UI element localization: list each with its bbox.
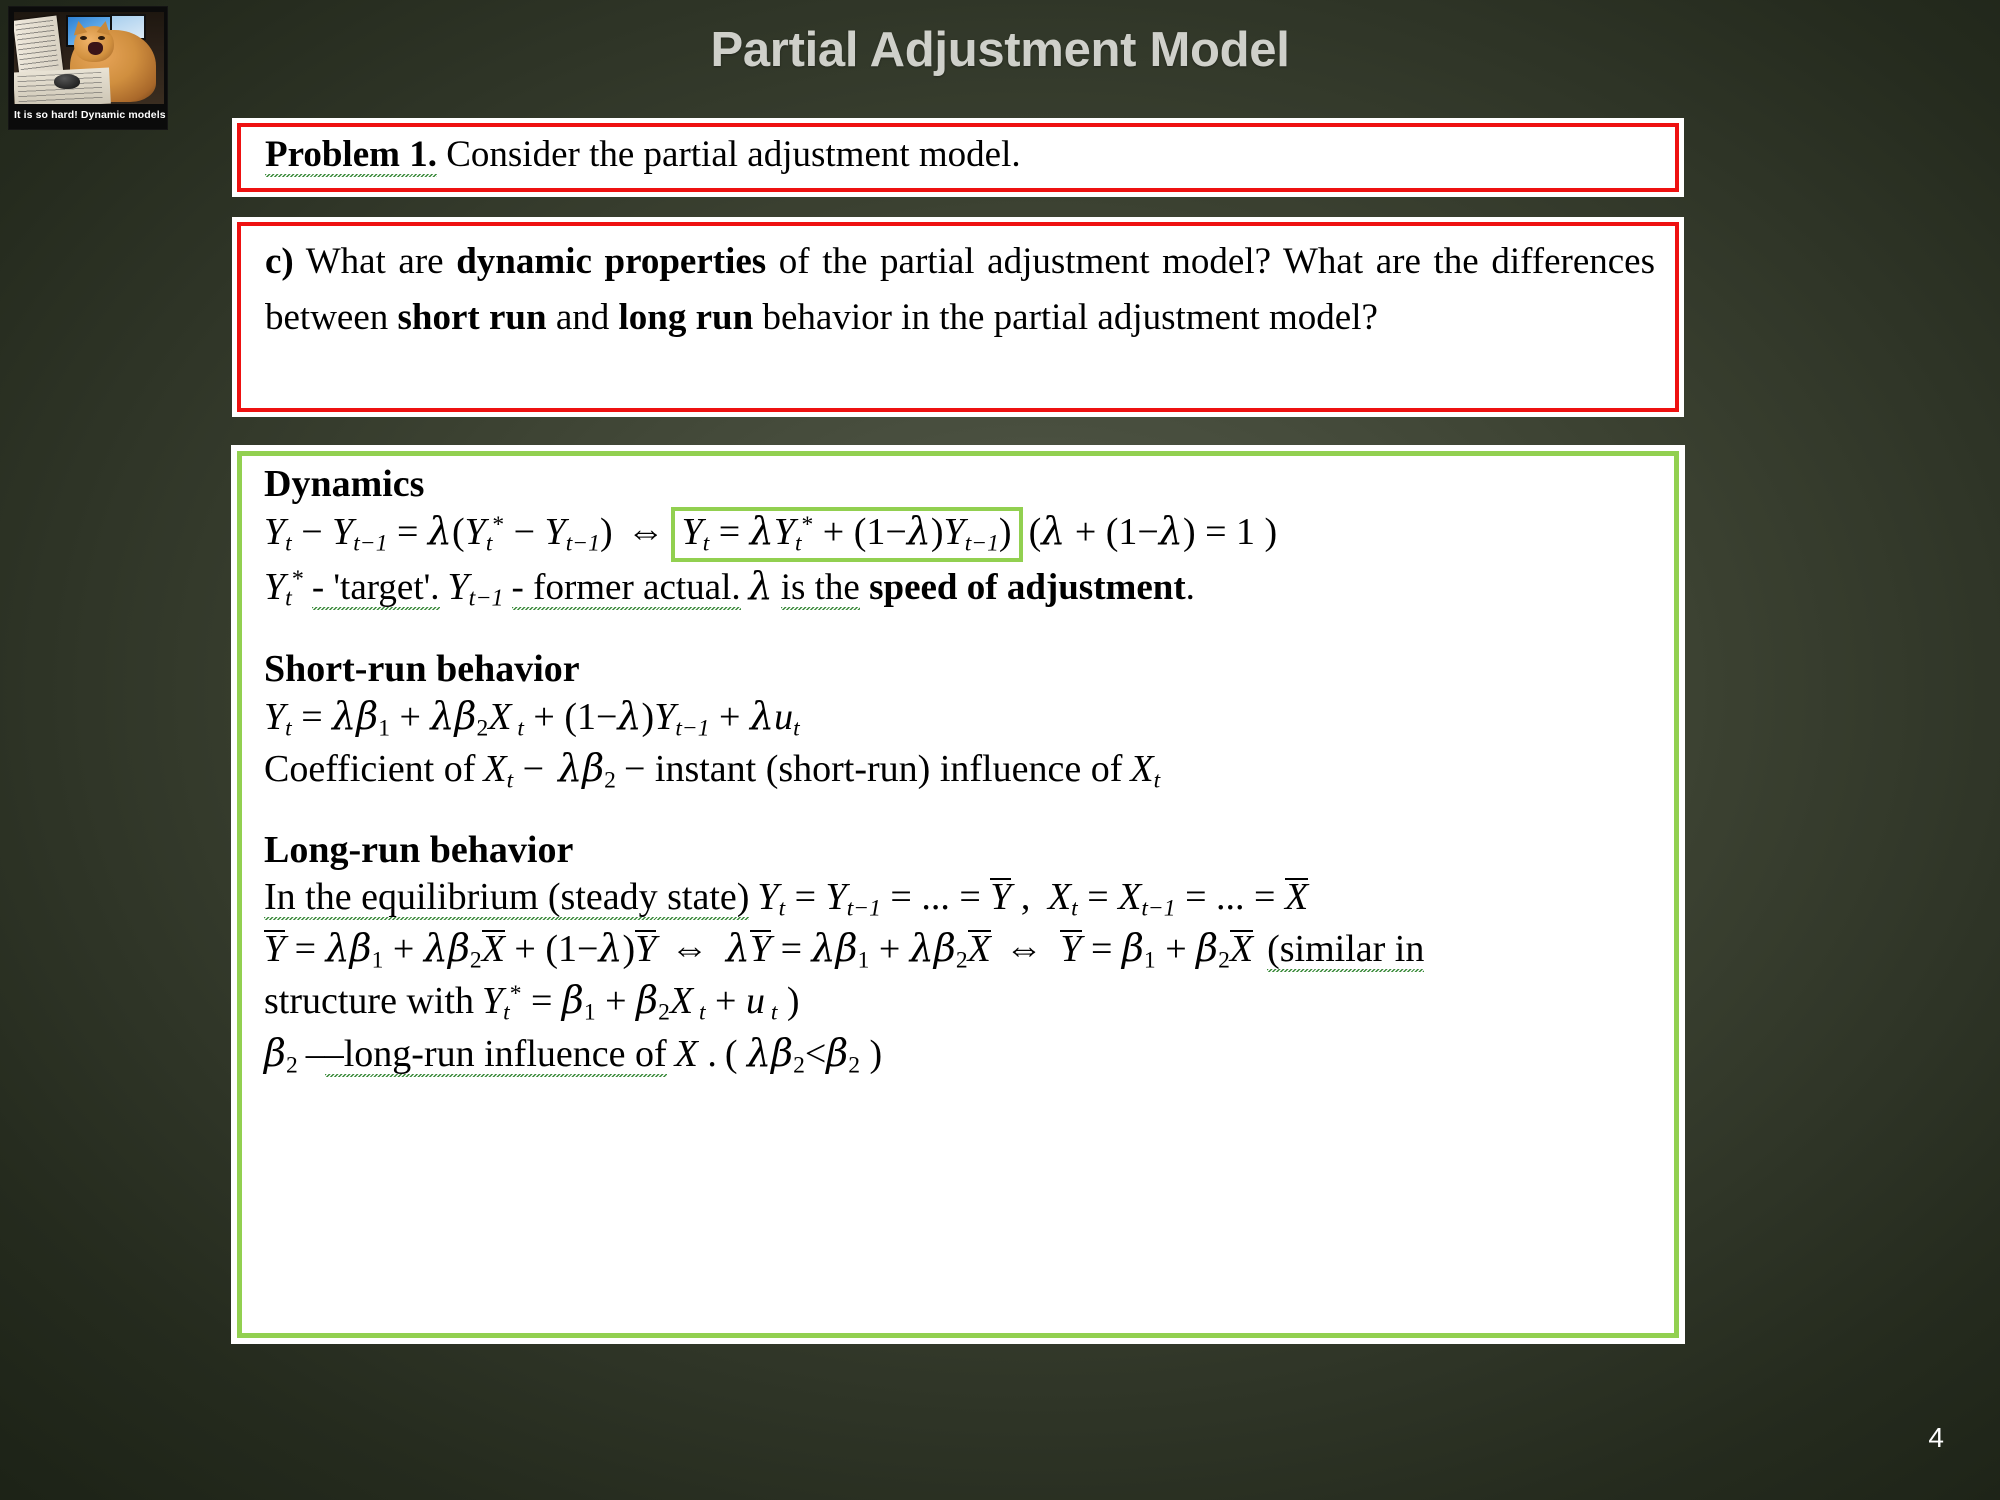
short-run-heading: Short-run behavior [264,647,1664,692]
question-bold-long-run: long run [619,297,754,338]
long-run-heading: Long-run behavior [264,828,1664,873]
def-target: - 'target'. [312,567,440,610]
equilibrium-prefix: In the equilibrium (steady state) [264,876,749,920]
dynamics-equation-row: Yt − Yt−1 = λ(Yt* − Yt−1)⇔Yt = λYt* + (1… [264,507,1664,563]
dynamics-content-box: Dynamics Yt − Yt−1 = λ(Yt* − Yt−1)⇔Yt = … [237,451,1679,1338]
dynamics-content: Dynamics Yt − Yt−1 = λ(Yt* − Yt−1)⇔Yt = … [264,462,1664,1081]
equivalence-icon: ⇔ [627,511,665,553]
structure-prefix: structure with [264,980,474,1022]
page-title: Partial Adjustment Model [0,22,2000,78]
long-run-structure-row: structure withYt* = β1 + β2X t + u t ) [264,976,1664,1028]
question-part4: behavior in the partial adjustment model… [753,297,1378,338]
thumbnail-caption: It is so hard! Dynamic models [14,104,164,126]
question-bold-dynamic-properties: dynamic properties [456,241,766,282]
spacer-1 [264,615,1664,647]
coef-desc: − instant (short-run) influence of [624,748,1122,790]
dynamics-equation-note: (λ + (1−λ) = 1 ) [1029,511,1278,553]
dynamics-equation-boxed: Yt = λYt* + (1−λ)Yt−1) [671,507,1023,563]
def-former: - former actual. [512,567,741,610]
long-run-tail: (similar in [1267,928,1424,972]
long-run-beta-row: β2––long-run influence ofX .( λβ2<β2 ) [264,1029,1664,1081]
dynamics-heading: Dynamics [264,462,1664,507]
page-number: 4 [1928,1422,1944,1454]
question-c-text: c) What are dynamic properties of the pa… [265,234,1655,346]
question-part1: What are [294,241,456,282]
slide-canvas: It is so hard! Dynamic models Partial Ad… [0,0,2000,1500]
def-end: . [1186,567,1195,608]
long-run-equation-row: Y = λβ1 + λβ2X + (1−λ)Y⇔ λY = λβ1 + λβ2X… [264,924,1664,976]
final-text: –long-run influence of [325,1033,667,1077]
question-part3: and [547,297,619,338]
def-lambda-bold: speed of adjustment [869,567,1186,608]
spacer-2 [264,796,1664,828]
short-run-coefficient-row: Coefficient ofXt −λβ2− instant (short-ru… [264,744,1664,796]
def-lambda-pre: is the [781,567,860,610]
dynamics-definitions-row: Yt*- 'target'.Yt−1- former actual.λis th… [264,562,1664,614]
short-run-equation: Yt = λβ1 + λβ2X t + (1−λ)Yt−1 + λut [264,692,1664,744]
question-bold-short-run: short run [398,297,547,338]
problem-statement-text: Problem 1. Consider the partial adjustme… [265,133,1021,176]
long-run-equilibrium-row: In the equilibrium (steady state)Yt = Yt… [264,873,1664,924]
question-letter: c) [265,241,294,282]
problem-statement-box: Problem 1. Consider the partial adjustme… [237,123,1679,192]
problem-body: Consider the partial adjustment model. [437,134,1021,175]
problem-label: Problem 1. [265,134,437,177]
question-c-box: c) What are dynamic properties of the pa… [237,222,1679,412]
dynamics-equation-left: Yt − Yt−1 = λ(Yt* − Yt−1) [264,511,613,553]
coef-prefix: Coefficient of [264,748,475,790]
